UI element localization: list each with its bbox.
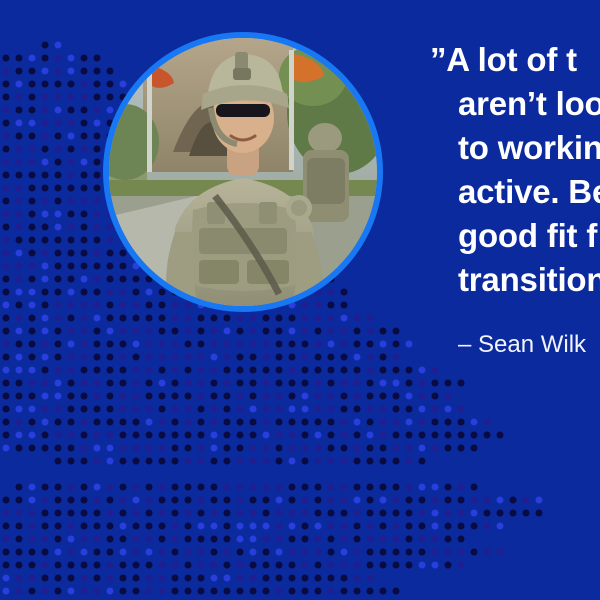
quote-line-1: ”A lot of t	[430, 38, 600, 82]
quote-line-4: active. Be	[430, 170, 600, 214]
quote-line-3: to workin	[430, 126, 600, 170]
quote-card: ”A lot of t aren’t loo to workin active.…	[0, 0, 600, 600]
quote-text: ”A lot of t aren’t loo to workin active.…	[430, 38, 600, 302]
quote-line-5: good fit f	[430, 214, 600, 258]
quote-line-6: transition	[430, 258, 600, 302]
quote-attribution: – Sean Wilk	[458, 330, 586, 360]
portrait-avatar	[103, 32, 383, 312]
quote-line-2: aren’t loo	[430, 82, 600, 126]
portrait-photo	[103, 32, 383, 312]
